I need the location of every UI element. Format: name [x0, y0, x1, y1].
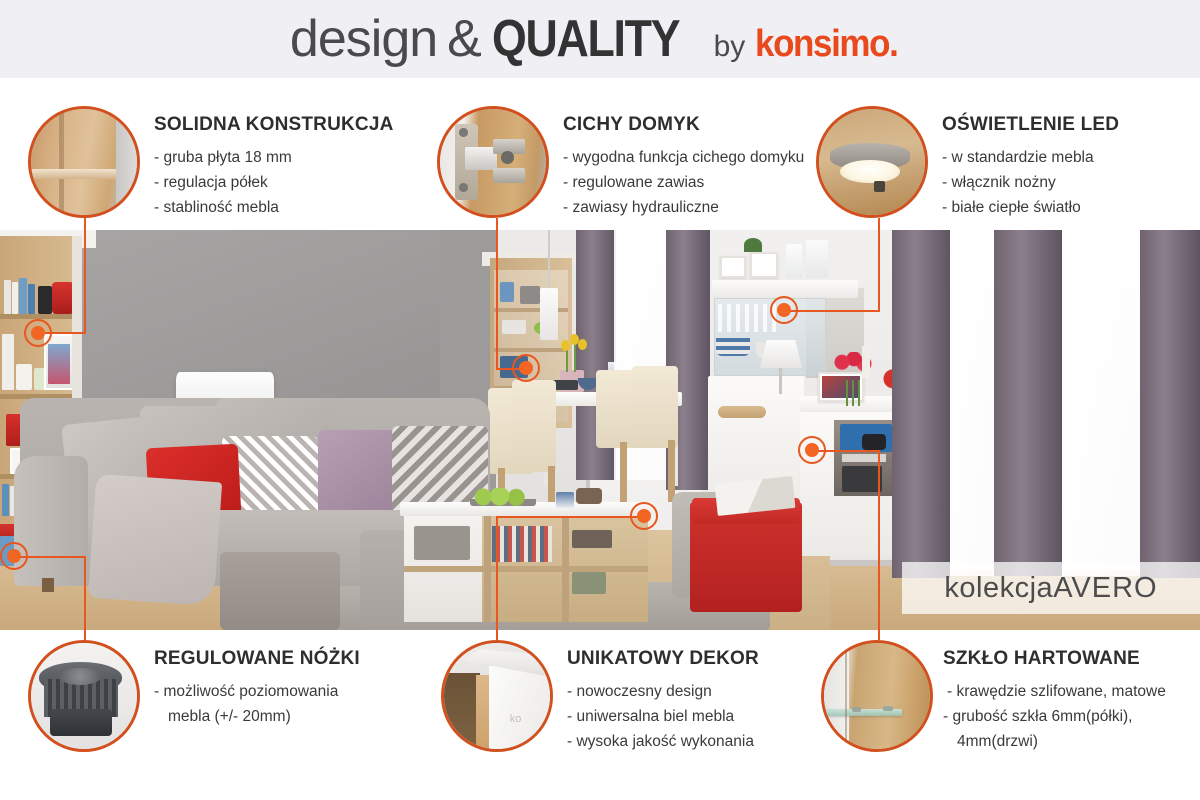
coffee-table-divider: [562, 516, 569, 622]
feature-bullet: mebla (+/- 20mm): [154, 704, 454, 729]
hotspot-dot-icon: [637, 509, 651, 523]
coffee-table-shelf: [404, 566, 648, 572]
hotspot-szklo-hartowane[interactable]: [798, 436, 826, 464]
glass-vase: [786, 244, 802, 278]
curtain-mid-panel: [994, 230, 1062, 576]
dark-wood-side: [444, 673, 480, 749]
feature-bullet: - włącznik nożny: [942, 170, 1200, 195]
white-table-lamp-shade: [760, 340, 802, 368]
pendant-lamp: [540, 288, 558, 340]
framed-picture: [48, 344, 70, 384]
feature-szklo-hartowane[interactable]: SZKŁO HARTOWANE - krawędzie szlifowane, …: [821, 640, 1200, 765]
connector-nozki-vertical: [84, 556, 86, 640]
led-light-icon: [816, 106, 928, 218]
led-switch: [874, 181, 885, 192]
yellow-tulip: [578, 339, 587, 350]
hotspot-regulowane-nozki[interactable]: [0, 542, 28, 570]
hotspot-dot-icon: [805, 443, 819, 457]
dining-cabinet-shelf: [494, 348, 568, 352]
striped-bowl: [716, 338, 750, 356]
coffee-table-divider: [484, 516, 491, 622]
curtain-left-panel: [892, 230, 950, 578]
pendant-lamp-cord: [548, 230, 550, 288]
header-banner: design & QUALITY by konsimo.: [0, 0, 1200, 78]
storage-basket: [414, 526, 470, 560]
feature-bullet: 4mm(drzwi): [943, 729, 1200, 754]
shelf-icon: [28, 106, 140, 218]
dining-chair: [632, 366, 678, 448]
camera: [842, 466, 882, 492]
cabinet-wood-handle: [718, 406, 766, 418]
led-lens: [840, 160, 899, 183]
feature-bullet: - możliwość poziomowania: [154, 679, 454, 704]
infographic-page: design & QUALITY by konsimo.: [0, 0, 1200, 800]
connector-solidna-vertical: [84, 218, 86, 334]
hotspot-cichy-domyk[interactable]: [512, 354, 540, 382]
hinge-arm: [493, 168, 525, 183]
connector-szklo-vertical: [878, 450, 880, 640]
feature-regulowane-nozki[interactable]: REGULOWANE NÓŻKI - możliwość poziomowani…: [28, 640, 428, 758]
feature-bullet: - regulacja półek: [154, 170, 454, 195]
feature-bullet: - białe ciepłe światło: [942, 195, 1200, 220]
feature-title: REGULOWANE NÓŻKI: [154, 648, 454, 670]
chair-leg: [668, 440, 675, 502]
feature-text-block: SOLIDNA KONSTRUKCJA - gruba płyta 18 mm …: [154, 114, 454, 220]
feature-title: SOLIDNA KONSTRUKCJA: [154, 114, 454, 136]
photo-frame: [750, 252, 778, 278]
shelf-edge: [59, 109, 64, 215]
coffee-mug: [556, 492, 574, 508]
glass-shelf-icon: [821, 640, 933, 752]
collection-name: AVERO: [1053, 572, 1157, 605]
connector-dekor-vertical: [496, 516, 498, 640]
hotspot-solidna-konstrukcja[interactable]: [24, 319, 52, 347]
feature-bullet: - w standardzie mebla: [942, 145, 1200, 170]
grey-ottoman: [220, 552, 340, 630]
sofa-leg: [42, 578, 54, 592]
watermark: ko: [510, 713, 533, 730]
feature-text-block: OŚWIETLENIE LED - w standardzie mebla - …: [942, 114, 1200, 220]
header-word-design: design: [290, 9, 437, 69]
candle: [16, 364, 32, 390]
white-lamp-pole: [779, 368, 782, 394]
shelf-support-pin: [852, 707, 862, 712]
hotspot-dot-icon: [7, 549, 21, 563]
feature-solidna-konstrukcja[interactable]: SOLIDNA KONSTRUKCJA - gruba płyta 18 mm …: [28, 106, 428, 224]
furniture-corner-icon: ko: [441, 640, 553, 752]
snack-bowl: [572, 530, 612, 548]
white-front-panel: [489, 666, 550, 749]
tulip-stem: [566, 348, 568, 372]
feature-bullet: - krawędzie szlifowane, matowe: [943, 679, 1200, 704]
connector-dekor-horizontal: [496, 516, 646, 518]
decor-object: [38, 286, 52, 314]
wine-glasses: [718, 304, 778, 332]
feature-bullet: - gruba płyta 18 mm: [154, 145, 454, 170]
hotspot-unikatowy-dekor[interactable]: [630, 502, 658, 530]
cookie-plate: [576, 488, 602, 504]
feature-bullet: - stabliność mebla: [154, 195, 454, 220]
decor-object: [2, 334, 14, 390]
feature-unikatowy-dekor[interactable]: ko UNIKATOWY DEKOR - nowoczesny design -…: [441, 640, 841, 758]
feature-title: OŚWIETLENIE LED: [942, 114, 1200, 136]
feature-oswietlenie-led[interactable]: OŚWIETLENIE LED - w standardzie mebla - …: [816, 106, 1196, 224]
apple-tray: [470, 488, 536, 506]
collection-label-prefix: kolekcja: [944, 572, 1053, 605]
adjustable-foot-icon: [28, 640, 140, 752]
header-ampersand: &: [447, 9, 482, 69]
feature-bullet: - grubość szkła 6mm(półki),: [943, 704, 1200, 729]
hinge-icon: [437, 106, 549, 218]
book: [12, 282, 18, 314]
hotspot-oswietlenie-led[interactable]: [770, 296, 798, 324]
curtain-right-panel: [1140, 230, 1200, 578]
book: [2, 484, 9, 516]
cabinet-decor: [520, 286, 540, 304]
dining-chair: [512, 380, 556, 472]
collection-badge: kolekcja AVERO: [902, 562, 1200, 614]
chair-leg: [620, 442, 627, 502]
cabinet-side: [116, 109, 137, 215]
header-brand-konsimo: konsimo.: [755, 23, 897, 66]
header-word-by: by: [714, 30, 746, 64]
red-decor-vase: [52, 282, 74, 314]
hinge-screw: [459, 183, 467, 191]
cabinet-decor: [500, 282, 514, 302]
hotspot-dot-icon: [777, 303, 791, 317]
candle-jar: [572, 572, 606, 594]
connector-led-horizontal: [784, 310, 880, 312]
camera: [862, 434, 886, 450]
panel-seam: [845, 643, 847, 749]
hinge-screw: [459, 128, 467, 136]
cabinet-bowl: [502, 320, 526, 334]
sofa-throw-blanket: [88, 474, 222, 606]
glass-vase: [806, 240, 828, 278]
feature-text-block: SZKŁO HARTOWANE - krawędzie szlifowane, …: [943, 648, 1200, 754]
feature-title: SZKŁO HARTOWANE: [943, 648, 1200, 670]
hotspot-dot-icon: [519, 361, 533, 375]
book: [19, 278, 27, 314]
magazine-stack: [492, 526, 552, 562]
tulip-stem: [574, 344, 576, 372]
sheer-curtain: [1060, 230, 1144, 576]
header-word-quality: QUALITY: [492, 9, 679, 69]
feature-cichy-domyk[interactable]: CICHY DOMYK - wygodna funkcja cichego do…: [437, 106, 837, 224]
feature-text-block: REGULOWANE NÓŻKI - możliwość poziomowani…: [154, 648, 454, 729]
shelf-support-pin: [883, 706, 893, 711]
plant: [744, 238, 762, 252]
photo-frame: [720, 256, 746, 278]
yellow-tulip: [561, 340, 570, 351]
book: [28, 284, 35, 314]
header-logo-lockup: design & QUALITY by konsimo.: [290, 9, 910, 69]
sheer-curtain: [948, 230, 994, 576]
candle: [862, 346, 870, 378]
foot-base: [50, 709, 111, 737]
shelf-board: [31, 169, 116, 179]
connector-led-vertical: [878, 218, 880, 312]
book: [4, 280, 11, 314]
living-room-photo: kolekcja AVERO: [0, 230, 1200, 630]
connector-cichy-vertical: [496, 218, 498, 370]
hotspot-dot-icon: [31, 326, 45, 340]
